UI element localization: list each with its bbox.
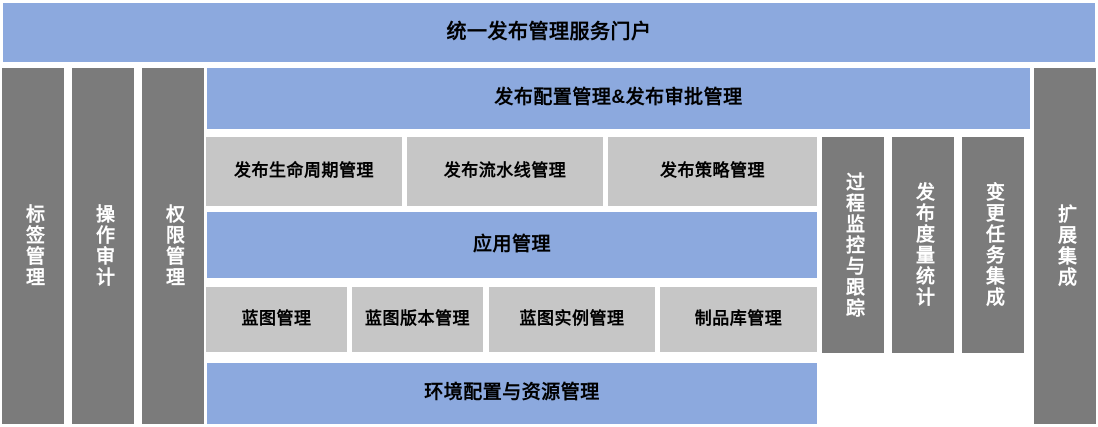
band-application-management: 应用管理 [207,212,817,278]
band-release-config-and-approval: 发布配置管理&发布审批管理 [207,68,1030,129]
capability-release-pipeline-management: 发布流水线管理 [407,137,603,206]
pillar-operation-audit: 操作审计 [72,68,134,424]
pillar-permission-management: 权限管理 [142,68,204,424]
portal-banner: 统一发布管理服务门户 [3,3,1095,62]
capability-release-strategy-management: 发布策略管理 [608,137,817,206]
pillar-tag-management: 标签管理 [2,68,64,424]
band-environment-and-resource-management: 环境配置与资源管理 [207,363,817,424]
pillar-release-metrics-statistics: 发布度量统计 [892,137,954,353]
pillar-change-task-integration: 变更任务集成 [962,137,1024,353]
capability-blueprint-management: 蓝图管理 [206,287,347,352]
pillar-process-monitoring-and-tracking: 过程监控与跟踪 [822,137,884,353]
pillar-extension-integration: 扩展集成 [1034,68,1096,424]
capability-release-lifecycle-management: 发布生命周期管理 [206,137,402,206]
capability-artifact-repository-management: 制品库管理 [660,287,817,352]
capability-blueprint-instance-management: 蓝图实例管理 [489,287,655,352]
capability-blueprint-version-management: 蓝图版本管理 [352,287,483,352]
architecture-diagram: 统一发布管理服务门户 标签管理 操作审计 权限管理 发布配置管理&发布审批管理 … [0,0,1098,427]
